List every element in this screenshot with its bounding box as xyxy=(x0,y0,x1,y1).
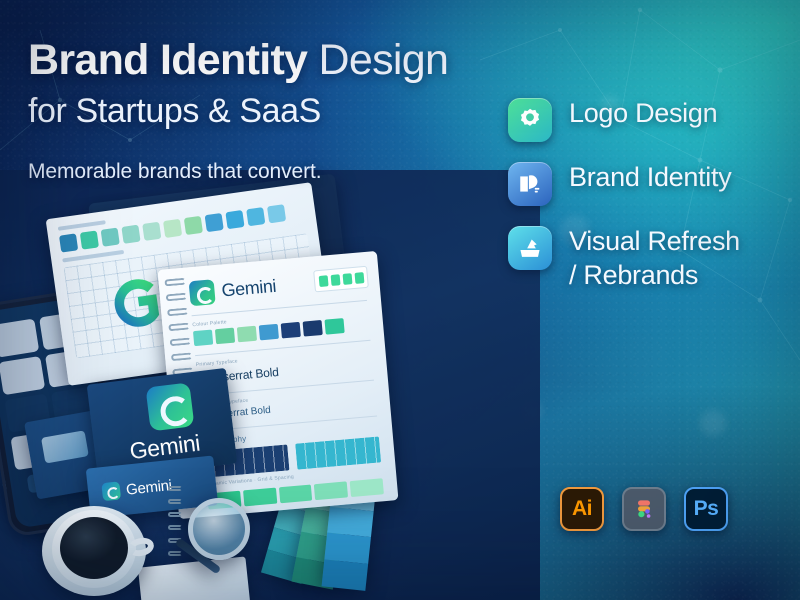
gear-badge-icon xyxy=(508,98,552,142)
refresh-upload-icon xyxy=(508,226,552,270)
illustrator-badge[interactable]: Ai xyxy=(560,487,604,531)
feature-label-line1: Visual Refresh xyxy=(569,226,740,256)
feature-item-visual-refresh[interactable]: Visual Refresh / Rebrands xyxy=(508,224,740,292)
poster-canvas: Gemini Colour Palette Primary Typeface M… xyxy=(0,0,800,600)
small-spiral-binding xyxy=(168,486,181,564)
notebook-green-swatch-chip xyxy=(313,266,369,293)
subtitle: for Startups & SaaS xyxy=(28,88,498,134)
feature-label: Visual Refresh / Rebrands xyxy=(569,224,740,292)
feature-label: Logo Design xyxy=(569,96,717,130)
headline-block: Brand Identity Design for Startups & Saa… xyxy=(28,34,498,184)
magnifying-glass xyxy=(188,498,250,560)
feature-label: Brand Identity xyxy=(569,160,731,194)
photoshop-label: Ps xyxy=(694,497,719,521)
photoshop-badge[interactable]: Ps xyxy=(684,487,728,531)
feature-item-brand-identity[interactable]: Brand Identity xyxy=(508,160,740,206)
title-regular-part: Design xyxy=(319,36,449,84)
title-bold-part: Brand Identity xyxy=(28,36,307,84)
card-brand-name-small: Gemini xyxy=(125,476,172,498)
figma-icon xyxy=(632,497,656,521)
gemini-logo-mark xyxy=(189,279,216,306)
illustrator-label: Ai xyxy=(572,497,592,521)
notebook-brand-name: Gemini xyxy=(221,276,277,302)
page-title: Brand Identity Design xyxy=(28,34,498,86)
coffee-liquid xyxy=(60,517,128,579)
software-badges: Ai Ps xyxy=(560,487,728,531)
layers-palette-icon xyxy=(508,162,552,206)
feature-label-line2: / Rebrands xyxy=(569,258,740,292)
feature-list: Logo Design Brand Identity xyxy=(508,96,740,292)
desk-scene-photo: Gemini Colour Palette Primary Typeface M… xyxy=(0,180,520,600)
tagline: Memorable brands that convert. xyxy=(28,160,498,184)
card-logo-mark-small xyxy=(101,481,121,501)
card-logo-mark xyxy=(145,382,194,431)
feature-item-logo-design[interactable]: Logo Design xyxy=(508,96,740,142)
figma-badge[interactable] xyxy=(622,487,666,531)
